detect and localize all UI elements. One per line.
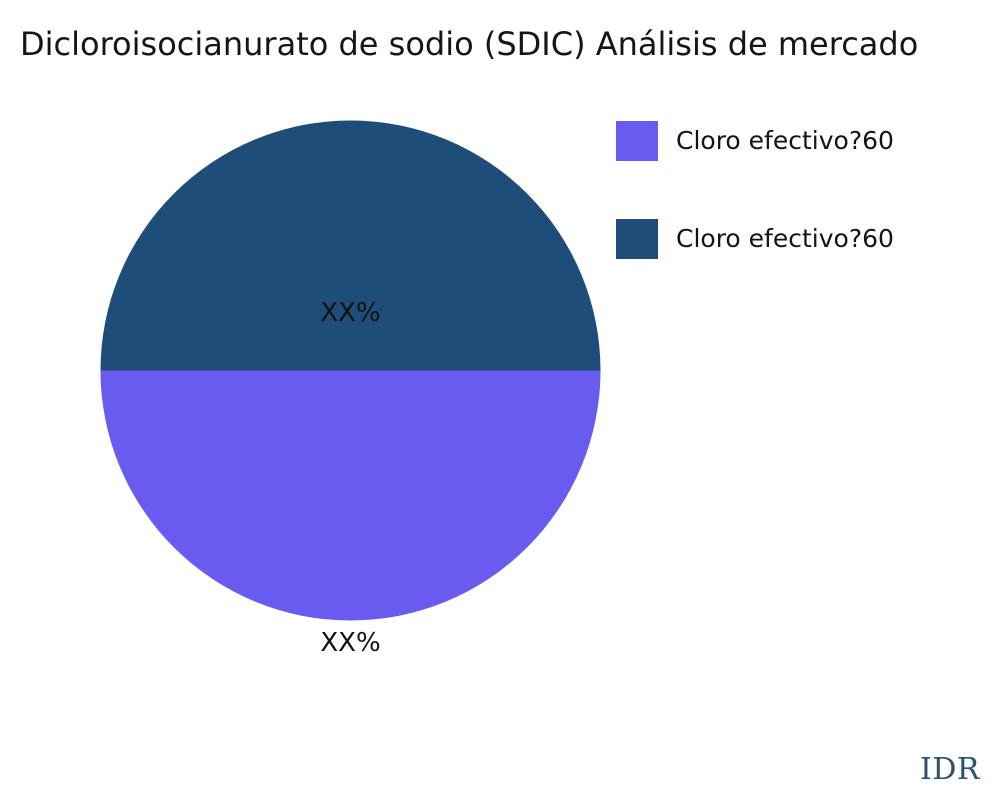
legend-item-label: Cloro efectivo?60 xyxy=(676,219,894,259)
pie-slice-bottom[interactable] xyxy=(101,371,601,621)
pie-chart: XX% XX% xyxy=(100,120,601,621)
pie-slice-bottom-label: XX% xyxy=(100,628,601,658)
legend-item-1[interactable]: Cloro efectivo?60 xyxy=(616,219,1000,259)
legend-swatch-icon xyxy=(616,219,658,259)
pie-svg xyxy=(100,120,601,621)
chart-title: Dicloroisocianurato de sodio (SDIC) Anál… xyxy=(20,20,1000,68)
legend-item-0[interactable]: Cloro efectivo?60 xyxy=(616,121,1000,161)
legend-item-label: Cloro efectivo?60 xyxy=(676,121,894,161)
watermark-logo: IDR xyxy=(920,752,980,787)
pie-slice-top[interactable] xyxy=(101,121,601,371)
legend-swatch-icon xyxy=(616,121,658,161)
pie-slice-top-label: XX% xyxy=(100,298,601,328)
chart-canvas: Dicloroisocianurato de sodio (SDIC) Anál… xyxy=(0,0,1000,800)
chart-legend: Cloro efectivo?60 Cloro efectivo?60 xyxy=(616,121,1000,317)
